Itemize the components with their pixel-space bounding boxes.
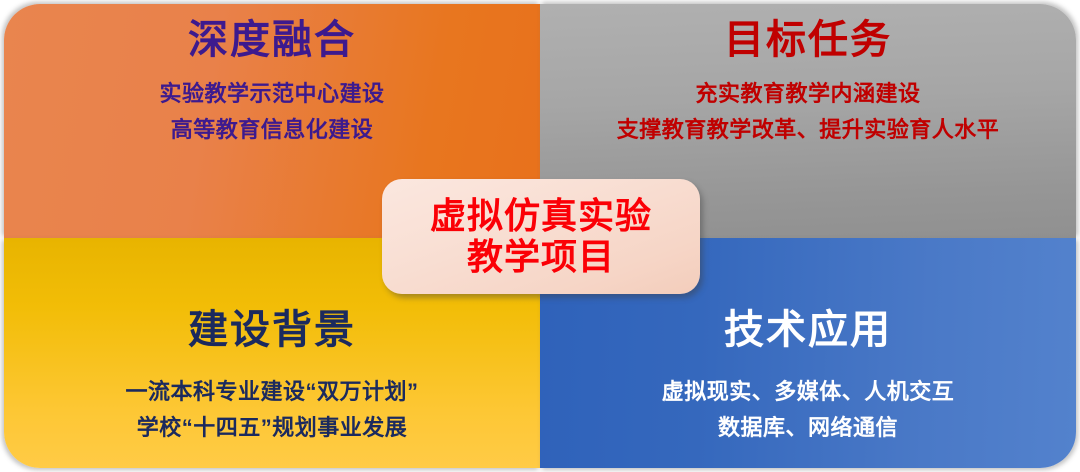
quadrant-line: 数据库、网络通信	[718, 417, 898, 439]
quadrant-line: 支撑教育教学改革、提升实验育人水平	[617, 119, 1000, 141]
center-badge-line-2: 教学项目	[467, 237, 615, 277]
quadrant-title-goal-task: 目标任务	[724, 18, 892, 62]
four-quadrant-infographic: 深度融合 实验教学示范中心建设 高等教育信息化建设 目标任务 充实教育教学内涵建…	[0, 0, 1080, 472]
center-badge: 虚拟仿真实验 教学项目	[382, 179, 700, 294]
quadrant-line: 学校“十四五”规划事业发展	[137, 417, 408, 439]
quadrant-title-construction-background: 建设背景	[188, 308, 356, 352]
center-badge-line-1: 虚拟仿真实验	[430, 196, 652, 236]
quadrant-line: 实验教学示范中心建设	[159, 83, 384, 105]
quadrant-title-deep-integration: 深度融合	[188, 18, 356, 62]
quadrant-line: 一流本科专业建设“双万计划”	[125, 381, 418, 403]
quadrant-line: 充实教育教学内涵建设	[695, 83, 920, 105]
quadrant-title-technology-application: 技术应用	[724, 308, 892, 352]
quadrant-line: 高等教育信息化建设	[171, 119, 374, 141]
quadrant-line: 虚拟现实、多媒体、人机交互	[662, 381, 955, 403]
